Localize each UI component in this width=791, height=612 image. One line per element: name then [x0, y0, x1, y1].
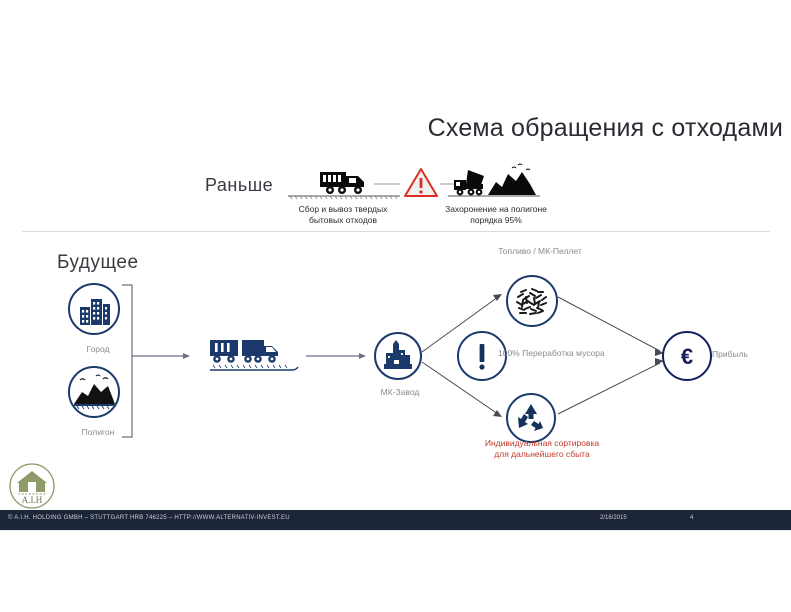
city-buildings-icon: [68, 283, 120, 335]
slide-canvas: Схема обращения с отходами Раньше: [0, 0, 791, 612]
warning-triangle-icon: [404, 167, 438, 198]
section-divider: [22, 231, 770, 232]
label-city: Город: [66, 344, 130, 355]
pellets-icon: [506, 275, 558, 327]
caption-burial: Захоронение на полигоне порядка 95%: [440, 204, 552, 227]
house-logo-icon: A.I.H: [8, 462, 56, 510]
label-polygon: Полигон: [60, 427, 136, 438]
label-profit: Прибыль: [712, 349, 772, 360]
logo-text: A.I.H: [22, 495, 43, 505]
svg-text:€: €: [681, 344, 693, 369]
section-label-future: Будущее: [57, 252, 139, 274]
landfill-icon: [68, 366, 120, 418]
page-title: Схема обращения с отходами: [393, 114, 783, 143]
caption-burial-line1: Захоронение на полигоне: [445, 204, 547, 214]
footer-date: 2/16/2015: [600, 515, 627, 521]
caption-collection-line2: бытовых отходов: [309, 215, 377, 225]
caption-collection-line1: Сбор и вывоз твердых: [299, 204, 388, 214]
landfill-dump-icon: [452, 162, 538, 198]
caption-collection: Сбор и вывоз твердых бытовых отходов: [287, 204, 399, 227]
label-individual-sorting-line2: для дальнейшего сбыта: [494, 449, 589, 459]
label-individual-sorting: Индивидуальная сортировка для дальнейшег…: [462, 438, 622, 461]
section-label-past: Раньше: [205, 175, 273, 196]
footer-bottom-rule: [0, 530, 791, 531]
caption-burial-line2: порядка 95%: [470, 215, 522, 225]
garbage-truck-icon: [318, 168, 376, 198]
label-fuel-pellet: Топливо / МК-Пеллет: [470, 246, 610, 257]
label-recycling-note: 100% Переработка мусора: [498, 348, 628, 359]
recycle-icon: [506, 393, 556, 443]
factory-icon: [374, 332, 422, 380]
label-individual-sorting-line1: Индивидуальная сортировка: [485, 438, 599, 448]
footer-copyright: © A.I.H. HOLDING GMBH – STUTTGART HRB 74…: [8, 515, 290, 521]
footer-bar: © A.I.H. HOLDING GMBH – STUTTGART HRB 74…: [0, 510, 791, 530]
footer-page-number: 4: [690, 515, 693, 521]
label-plant: МК-Завод: [366, 387, 434, 398]
truck-trailer-icon: [208, 336, 300, 374]
euro-icon: €: [662, 331, 712, 381]
